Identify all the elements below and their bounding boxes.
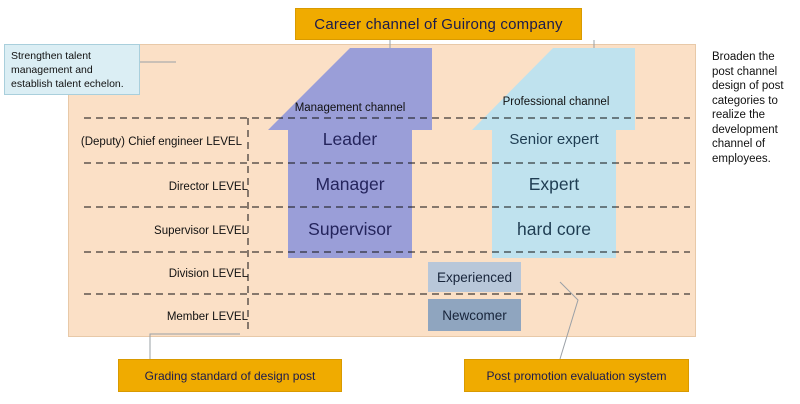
diagram-canvas: Career channel of Guirong company Streng…: [0, 0, 800, 404]
professional-channel-label: Professional channel: [494, 96, 618, 108]
entry-block-experienced-label: Experienced: [437, 270, 512, 285]
management-item-manager: Manager: [288, 174, 412, 195]
professional-item-hard-core: hard core: [492, 219, 616, 240]
professional-item-expert: Expert: [492, 174, 616, 195]
level-label-member: Member LEVEL: [68, 311, 248, 323]
left-note-label: Strengthen talent management and establi…: [11, 50, 124, 90]
level-label-supervisor: Supervisor LEVEL: [68, 225, 248, 237]
professional-item-senior-expert: Senior expert: [492, 131, 616, 148]
grading-standard-label: Grading standard of design post: [145, 369, 316, 383]
grading-standard-box: Grading standard of design post: [118, 359, 342, 392]
promotion-evaluation-box: Post promotion evaluation system: [464, 359, 689, 392]
entry-block-newcomer-label: Newcomer: [442, 308, 507, 323]
left-note-box: Strengthen talent management and establi…: [4, 44, 140, 95]
level-label-division: Division LEVEL: [68, 268, 248, 280]
entry-block-experienced: Experienced: [428, 262, 521, 292]
promotion-evaluation-label: Post promotion evaluation system: [486, 369, 666, 383]
management-channel-label: Management channel: [290, 102, 410, 114]
page-title-label: Career channel of Guirong company: [314, 16, 562, 33]
right-note-label: Broaden the post channel design of post …: [712, 51, 784, 165]
page-title: Career channel of Guirong company: [295, 8, 582, 40]
entry-block-newcomer: Newcomer: [428, 299, 521, 331]
right-note-text: Broaden the post channel design of post …: [712, 50, 798, 166]
management-item-leader: Leader: [288, 129, 412, 150]
management-item-supervisor: Supervisor: [288, 219, 412, 240]
level-label-director: Director LEVEL: [68, 181, 248, 193]
level-label-chief-engineer: (Deputy) Chief engineer LEVEL: [56, 136, 242, 148]
bottom-left-connector: [150, 334, 240, 359]
